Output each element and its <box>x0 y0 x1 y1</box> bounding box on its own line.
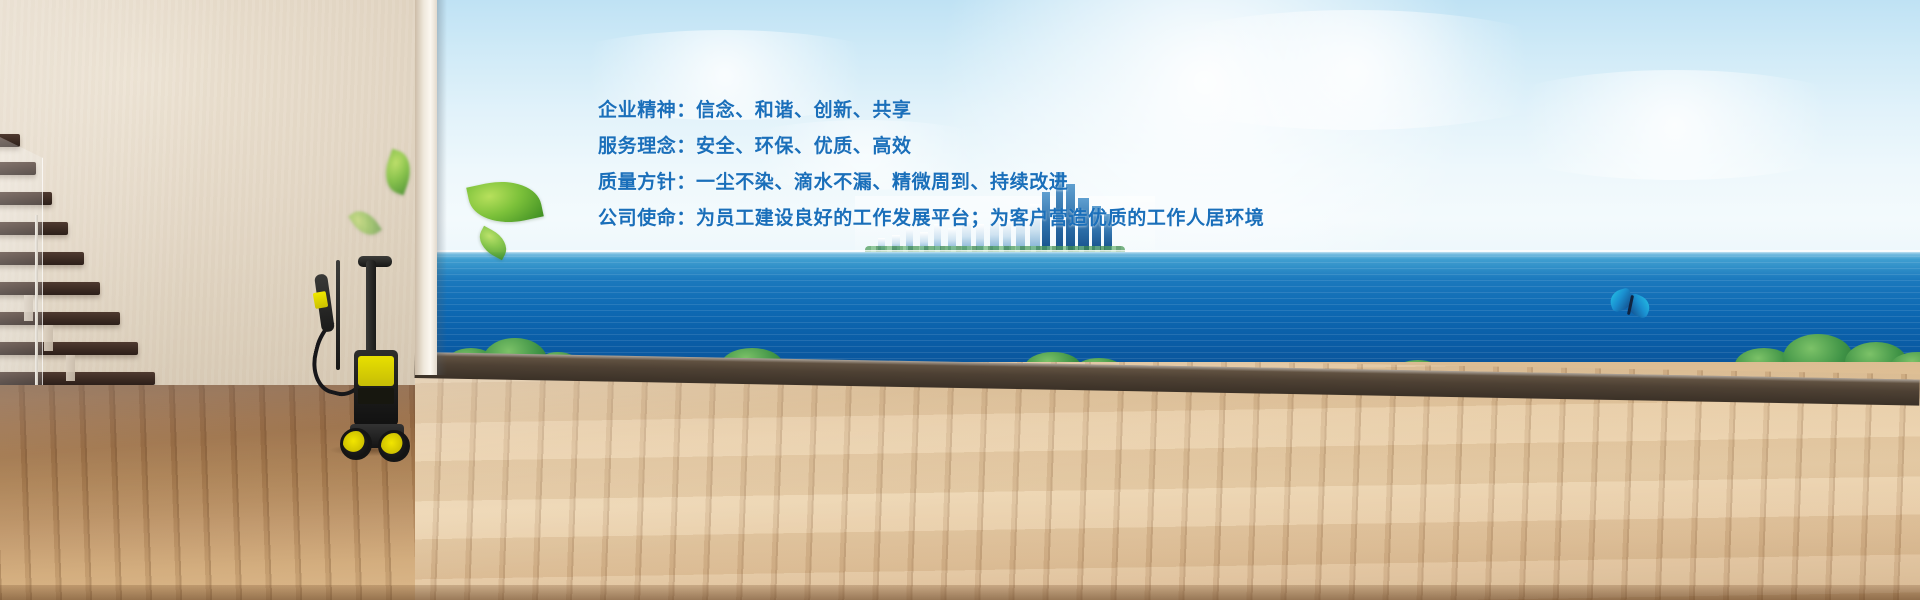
cloud <box>1465 70 1885 180</box>
washer-trigger <box>313 291 329 309</box>
washer-lower-panel <box>358 388 394 404</box>
slogan-text-block: 企业精神：信念、和谐、创新、共享 服务理念：安全、环保、优质、高效 质量方针：一… <box>598 92 1264 236</box>
washer-wheel <box>340 428 372 460</box>
slogan-line-company-mission: 公司使命：为员工建设良好的工作发展平台；为客户营造优质的工作人居环境 <box>598 200 1264 236</box>
butterfly-decoration <box>1610 288 1652 328</box>
company-culture-banner: 企业精神：信念、和谐、创新、共享 服务理念：安全、环保、优质、高效 质量方针：一… <box>0 0 1920 600</box>
slogan-line-corporate-spirit: 企业精神：信念、和谐、创新、共享 <box>598 92 1264 128</box>
pressure-washer <box>312 252 420 460</box>
washer-front-panel <box>358 356 394 386</box>
sea-horizon-line <box>435 250 1920 254</box>
slogan-line-service-concept: 服务理念：安全、环保、优质、高效 <box>598 128 1264 164</box>
slogan-line-quality-policy: 质量方针：一尘不染、滴水不漏、精微周到、持续改进 <box>598 164 1264 200</box>
mural-frame-shadow <box>437 0 447 375</box>
railing-post <box>35 215 38 390</box>
floor-bottom-shadow <box>0 585 1920 600</box>
washer-wheel <box>378 430 410 462</box>
